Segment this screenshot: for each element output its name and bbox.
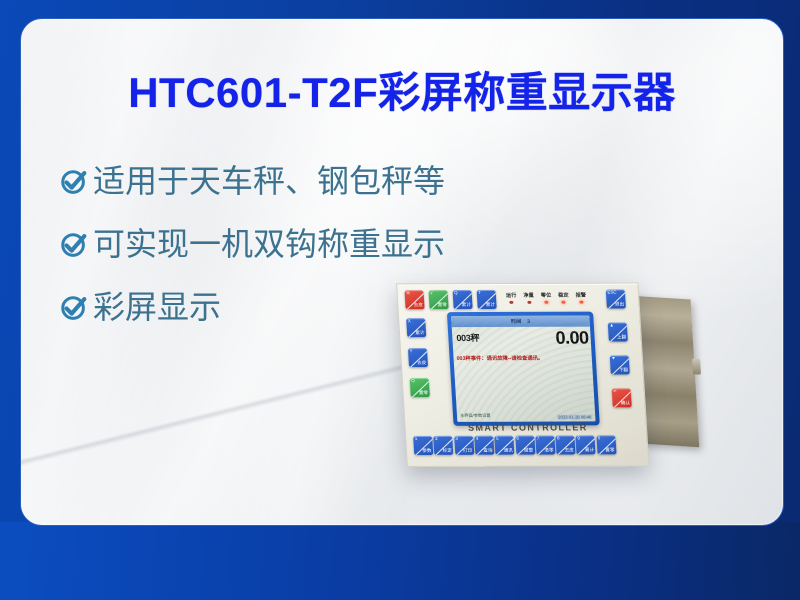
lcd-weight-value: 0.00 [555, 328, 589, 349]
key-upper-label: % [406, 291, 410, 295]
key-upper-label: Q [454, 291, 458, 295]
key-lower-label: 累计 [585, 449, 594, 454]
key-left-1[interactable]: Y去皮 [408, 348, 428, 367]
device-brand-label: SMART CONTROLLER [462, 422, 593, 432]
key-bottom-9[interactable]: 0置零 [596, 435, 616, 454]
status-indicator-row: 运行净重零位稳定报警 [506, 292, 587, 304]
key-lower-label: 累计 [462, 303, 471, 308]
key-top-0[interactable]: %去皮 [404, 290, 424, 309]
lcd-footer-right: 2023-01-28 08:46 [557, 414, 592, 419]
lcd-footer-left: 主界面/参数设置 [460, 413, 491, 419]
key-lower-label: 打印 [463, 449, 472, 454]
key-bottom-5[interactable]: 6报警 [515, 436, 535, 455]
key-bottom-6[interactable]: 7清零 [535, 436, 555, 455]
status-led-icon [579, 301, 583, 304]
list-item: 可实现一机双钩称重显示 [59, 227, 529, 262]
key-upper-label: 6 [516, 437, 519, 441]
key-bottom-8[interactable]: 9累计 [576, 435, 596, 454]
key-bottom-0[interactable]: 1参数 [413, 436, 433, 455]
list-item: 适用于天车秤、钢包秤等 [59, 164, 529, 199]
key-upper-label: 3 [455, 437, 458, 441]
key-bottom-4[interactable]: 5通讯 [494, 436, 514, 455]
key-lower-label: 参数 [422, 449, 431, 454]
key-upper-label: ▼ [611, 356, 616, 360]
key-upper-label: ESC [607, 291, 616, 295]
key-right-0[interactable]: ESC退出 [606, 290, 626, 309]
feature-text: 可实现一机双钩称重显示 [93, 227, 445, 262]
key-upper-label: ▲ [609, 324, 614, 328]
status-label: 报警 [575, 292, 586, 299]
lcd-titlebar: 时间 3 [451, 316, 590, 327]
lcd-channel-label: 003秤 [456, 331, 480, 344]
status-led-icon [544, 301, 548, 304]
key-lower-label: 累计 [486, 303, 495, 308]
key-bottom-1[interactable]: 2标定 [433, 436, 453, 455]
circled-check-icon [59, 293, 89, 323]
key-lower-label: 标定 [443, 449, 452, 454]
key-upper-label: X [408, 319, 411, 323]
key-bottom-2[interactable]: 3打印 [454, 436, 474, 455]
device-keypad: %去皮√置零Q累计T累计X累计Y去皮O置零ESC退出▲上翻▼下翻↵确认1参数2标… [397, 284, 637, 285]
status-indicator-0: 运行 [506, 292, 517, 304]
key-top-3[interactable]: T累计 [477, 290, 497, 309]
content-card: HTC601-T2F彩屏称重显示器 适用于天车秤、钢包秤等 可实现一机双钩称重显… [20, 18, 784, 526]
key-lower-label: 通讯 [504, 449, 513, 454]
key-lower-label: 退出 [615, 303, 624, 308]
status-led-icon [527, 301, 531, 304]
key-lower-label: 报警 [524, 449, 533, 454]
key-upper-label: 0 [598, 436, 601, 440]
circled-check-icon [59, 167, 89, 197]
key-lower-label: 上翻 [617, 336, 626, 341]
key-lower-label: 下翻 [619, 369, 628, 374]
status-label: 稳定 [558, 292, 569, 299]
lcd-warning-text: 003秤事件：通讯故障--请检查通讯。 [456, 354, 543, 362]
feature-text: 适用于天车秤、钢包秤等 [93, 164, 445, 199]
status-led-icon [562, 301, 566, 304]
key-upper-label: 2 [435, 437, 438, 441]
key-left-2[interactable]: O置零 [410, 378, 430, 397]
key-upper-label: Y [409, 349, 412, 353]
feature-text: 彩屏显示 [93, 290, 221, 325]
key-right-3[interactable]: ↵确认 [612, 388, 632, 407]
product-device-photo: 运行净重零位稳定报警 时间 3 003秤 0.00 003秤事件：通讯故障--请… [396, 272, 709, 519]
key-lower-label: 去皮 [414, 304, 423, 309]
key-right-2[interactable]: ▼下翻 [610, 355, 630, 374]
key-upper-label: √ [430, 291, 433, 295]
key-upper-label: 8 [557, 437, 560, 441]
status-indicator-2: 零位 [541, 292, 552, 304]
key-lower-label: 去皮 [565, 449, 574, 454]
key-bottom-7[interactable]: 8去皮 [555, 435, 575, 454]
key-upper-label: T [478, 291, 481, 295]
key-lower-label: 清零 [544, 449, 553, 454]
status-label: 零位 [541, 292, 552, 299]
key-upper-label: ↵ [613, 389, 617, 393]
status-indicator-4: 报警 [575, 292, 586, 304]
bottom-blue-band [0, 522, 800, 600]
key-lower-label: 置零 [419, 391, 428, 396]
key-left-0[interactable]: X累计 [406, 318, 426, 337]
lcd-titlebar-left: 时间 [511, 318, 521, 325]
key-right-1[interactable]: ▲上翻 [608, 322, 628, 341]
key-upper-label: 1 [415, 437, 418, 441]
status-indicator-1: 净重 [523, 292, 534, 304]
lcd-titlebar-right: 3 [527, 318, 530, 324]
key-top-2[interactable]: Q累计 [453, 290, 473, 309]
page-title: HTC601-T2F彩屏称重显示器 [21, 59, 783, 120]
status-indicator-3: 稳定 [558, 292, 569, 304]
circled-check-icon [59, 230, 89, 260]
key-lower-label: 置零 [605, 449, 614, 454]
product-poster: HTC601-T2F彩屏称重显示器 适用于天车秤、钢包秤等 可实现一机双钩称重显… [0, 0, 800, 600]
key-upper-label: O [411, 379, 415, 383]
lcd-weight-row: 003秤 0.00 [452, 327, 592, 353]
status-led-icon [509, 301, 513, 304]
key-top-1[interactable]: √置零 [429, 290, 449, 309]
key-upper-label: 4 [476, 437, 479, 441]
status-label: 运行 [506, 292, 517, 299]
key-bottom-3[interactable]: 4查询 [474, 436, 494, 455]
key-lower-label: 去皮 [417, 362, 426, 367]
lcd-bezel: 时间 3 003秤 0.00 003秤事件：通讯故障--请检查通讯。 主界面/参… [447, 312, 600, 426]
lcd-screen: 时间 3 003秤 0.00 003秤事件：通讯故障--请检查通讯。 主界面/参… [451, 316, 596, 422]
key-upper-label: 5 [496, 437, 499, 441]
status-label: 净重 [523, 292, 534, 299]
key-upper-label: 7 [537, 437, 540, 441]
key-upper-label: 9 [577, 436, 580, 440]
key-lower-label: 累计 [415, 332, 424, 337]
key-lower-label: 确认 [621, 402, 630, 407]
key-lower-label: 置零 [438, 304, 447, 309]
key-lower-label: 查询 [483, 449, 492, 454]
device-faceplate: 运行净重零位稳定报警 时间 3 003秤 0.00 003秤事件：通讯故障--请… [396, 282, 649, 467]
